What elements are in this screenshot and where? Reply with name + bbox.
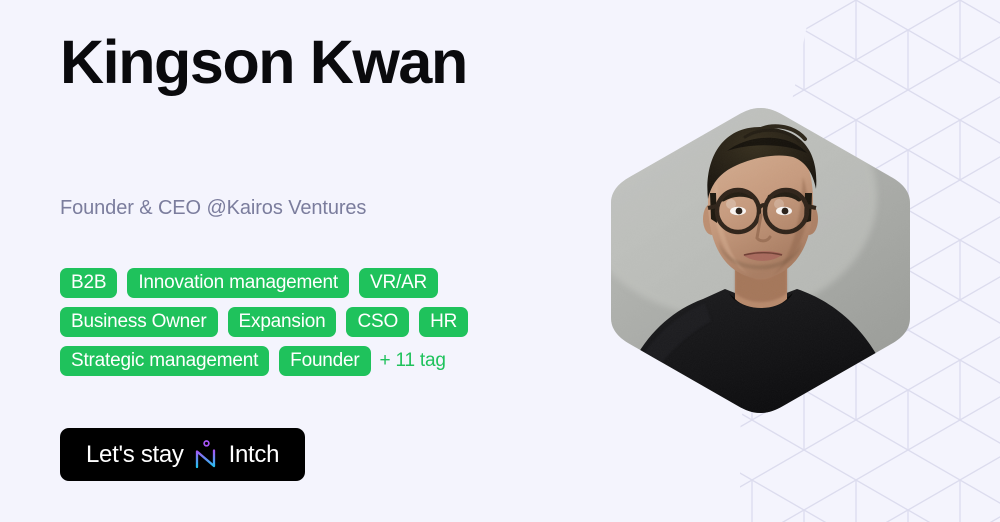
tag-chip[interactable]: Business Owner <box>60 307 218 337</box>
cta-brand-name: Intch <box>229 441 280 469</box>
tag-chip[interactable]: Founder <box>279 346 370 376</box>
more-tags-label[interactable]: + 11 tag <box>380 346 446 376</box>
tag-chip[interactable]: Strategic management <box>60 346 269 376</box>
profile-info: Kingson Kwan Founder & CEO @Kairos Ventu… <box>60 0 600 522</box>
lets-stay-intch-button[interactable]: Let's stay Intch <box>60 428 305 481</box>
tag-chip[interactable]: Innovation management <box>127 268 349 298</box>
avatar: Portrait of Kingson Kwan wearing round g… <box>607 107 914 414</box>
intch-n-logo-icon <box>193 440 219 470</box>
tag-list: B2B Innovation management VR/AR Business… <box>60 268 560 376</box>
page-title: Kingson Kwan <box>60 34 467 92</box>
tag-chip[interactable]: CSO <box>346 307 409 337</box>
tag-chip[interactable]: B2B <box>60 268 117 298</box>
cta-label: Let's stay <box>86 441 184 469</box>
profile-headline: Founder & CEO @Kairos Ventures <box>60 197 366 220</box>
tag-chip[interactable]: VR/AR <box>359 268 438 298</box>
tag-chip[interactable]: HR <box>419 307 468 337</box>
tag-chip[interactable]: Expansion <box>228 307 337 337</box>
profile-card: Portrait of Kingson Kwan wearing round g… <box>0 0 1000 522</box>
